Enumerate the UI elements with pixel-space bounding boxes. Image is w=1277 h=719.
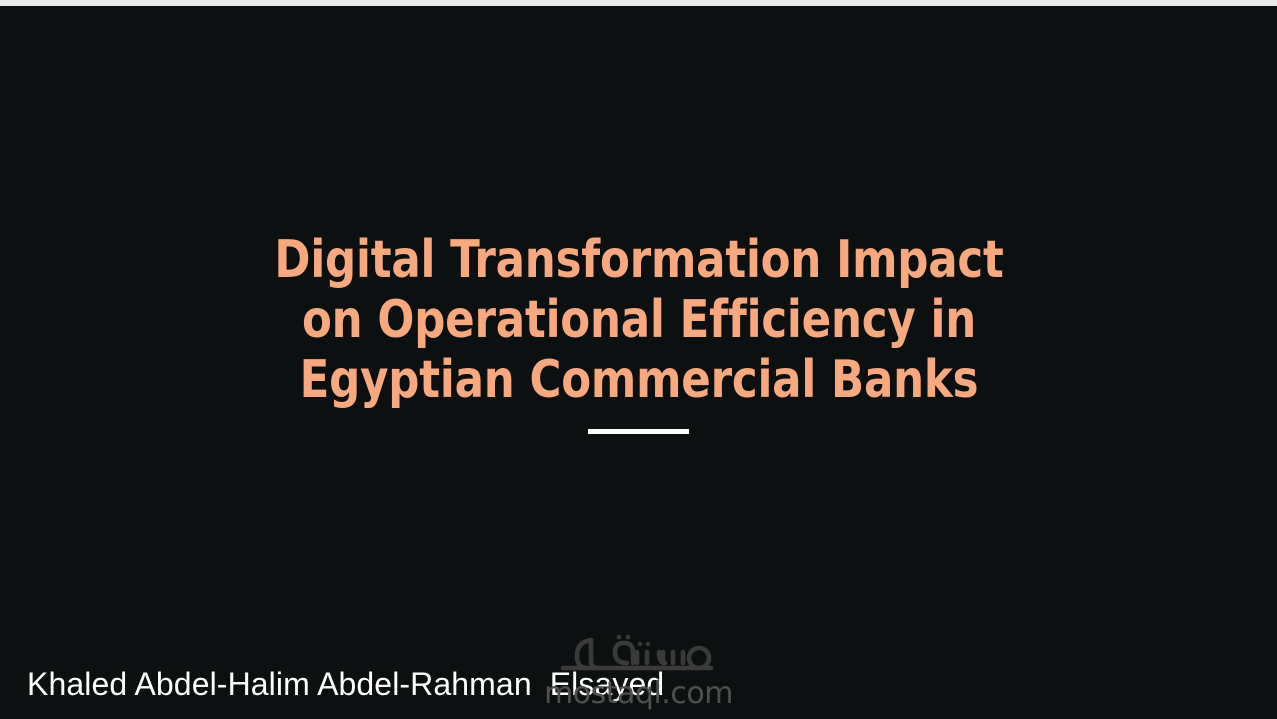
title-divider (588, 429, 689, 434)
presentation-slide: Digital Transformation Impact on Operati… (0, 0, 1277, 719)
author-name: Khaled Abdel-Halim Abdel-Rahman Elsayed (27, 665, 664, 703)
page-title: Digital Transformation Impact on Operati… (239, 230, 1039, 410)
title-block: Digital Transformation Impact on Operati… (0, 0, 1277, 719)
